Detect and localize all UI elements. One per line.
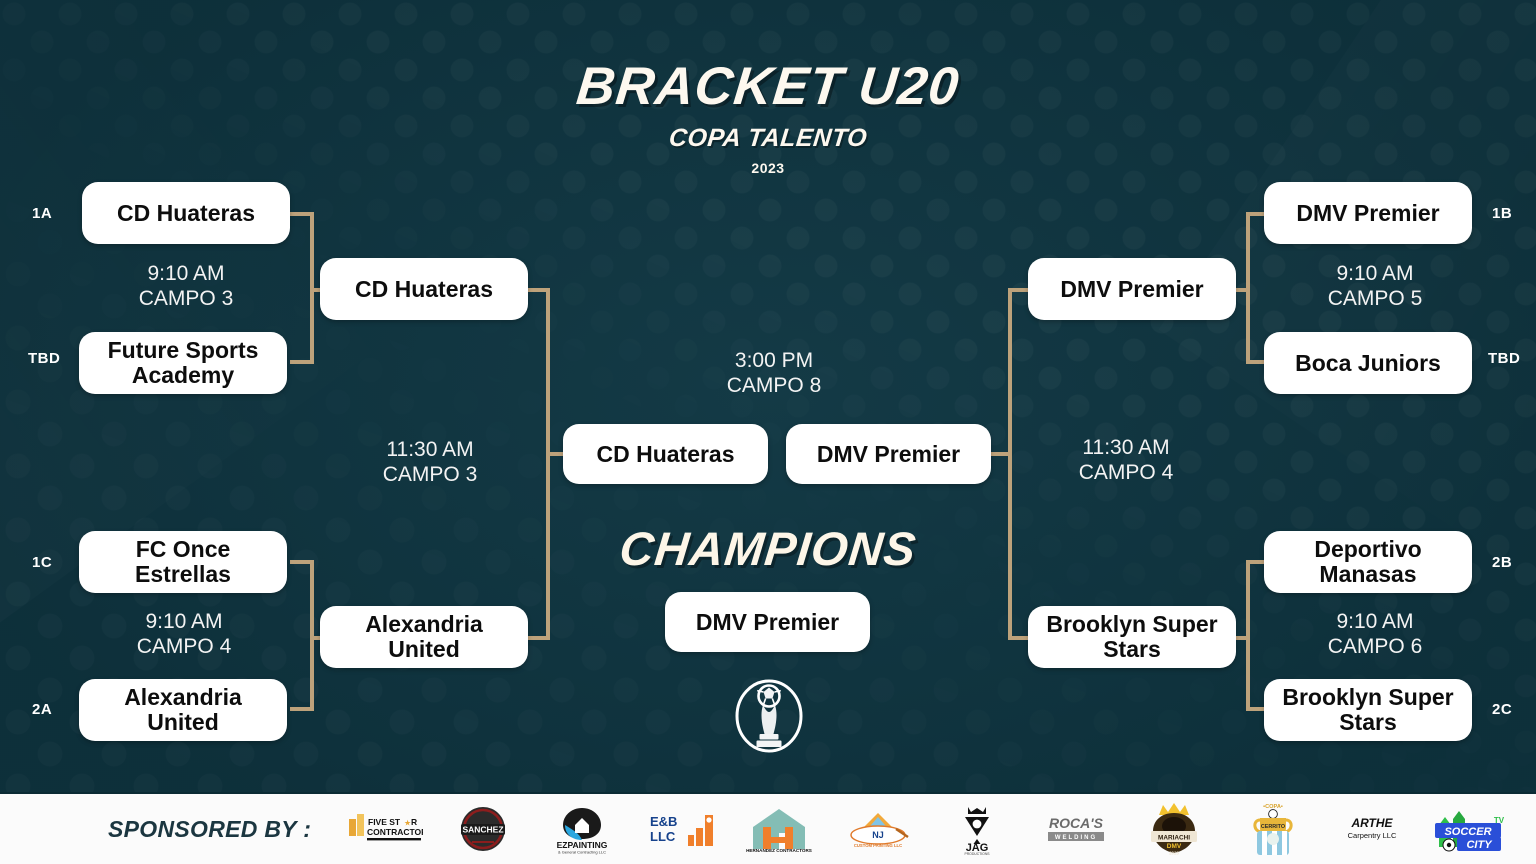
sponsor-logo-nj-custom-painting[interactable]: NJ CUSTOM PAINTING LLC [839, 800, 917, 858]
svg-text:WELDING: WELDING [1054, 835, 1096, 841]
seed-right-2: TBD [1488, 350, 1520, 367]
match-field: CAMPO 6 [1275, 634, 1475, 659]
svg-text:EZPAINTING: EZPAINTING [557, 840, 608, 850]
sponsor-logo-ezpainting[interactable]: EZPAINTING & General Contracting LLC [543, 800, 621, 858]
match-info-final: 3:00 PM CAMPO 8 [674, 348, 874, 398]
page-year: 2023 [0, 160, 1536, 176]
svg-text:CUSTOM PAINTING LLC: CUSTOM PAINTING LLC [854, 843, 902, 848]
connector-left-sf-vert [546, 288, 550, 638]
svg-text:ARTHE: ARTHE [1350, 816, 1393, 830]
sponsor-logo-sanchez[interactable]: SANCHEZ [444, 800, 522, 858]
team-box-left-r1-4[interactable]: Alexandria United [79, 679, 287, 741]
world-cup-trophy-icon [733, 677, 805, 760]
team-name: CD Huateras [117, 201, 255, 226]
svg-text:ROCA'S: ROCA'S [1049, 815, 1104, 831]
match-field: CAMPO 8 [674, 373, 874, 398]
team-name: CD Huateras [355, 277, 493, 302]
sponsor-logo-rocas-welding[interactable]: ROCA'S WELDING [1037, 800, 1115, 858]
match-time: 9:10 AM [86, 261, 286, 286]
connector-right-sf-bottom [1008, 636, 1030, 640]
page-title: BRACKET U20 [574, 56, 962, 117]
svg-text:PRODUCTIONS: PRODUCTIONS [964, 852, 990, 855]
team-box-left-sf-1[interactable]: CD Huateras [320, 258, 528, 320]
svg-text:& General Contracting LLC: & General Contracting LLC [558, 850, 606, 855]
team-box-champion[interactable]: DMV Premier [665, 592, 870, 652]
team-name: CD Huateras [596, 442, 734, 467]
seed-right-4: 2C [1492, 701, 1512, 718]
team-name: DMV Premier [817, 442, 960, 467]
connector-left-final-in [546, 452, 564, 456]
match-time: 11:30 AM [330, 437, 530, 462]
svg-text:DMV: DMV [1167, 843, 1182, 850]
match-field: CAMPO 5 [1275, 286, 1475, 311]
svg-text:CERRITO: CERRITO [1261, 824, 1285, 830]
match-info-right-2: 9:10 AM CAMPO 6 [1275, 609, 1475, 659]
seed-left-1: 1A [32, 205, 52, 222]
sponsor-logo-list: FIVE ST ★ R CONTRACTORS SANCHEZ [311, 800, 1536, 858]
match-info-right-semifinal: 11:30 AM CAMPO 4 [1026, 435, 1226, 485]
svg-text:NJ: NJ [872, 830, 884, 840]
seed-right-1: 1B [1492, 205, 1512, 222]
team-box-right-r1-1[interactable]: DMV Premier [1264, 182, 1472, 244]
connector-left-r1-vert-bottom [310, 560, 314, 710]
team-box-left-r1-1[interactable]: CD Huateras [82, 182, 290, 244]
team-name: DMV Premier [1060, 277, 1203, 302]
champions-heading: CHAMPIONS [0, 521, 1536, 576]
team-name: DMV Premier [696, 610, 839, 635]
seed-left-2: TBD [28, 350, 60, 367]
team-box-left-r1-2[interactable]: Future Sports Academy [79, 332, 287, 394]
connector-right-final-in [990, 452, 1010, 456]
seed-left-4: 2A [32, 701, 52, 718]
match-info-right-1: 9:10 AM CAMPO 5 [1275, 261, 1475, 311]
match-info-left-semifinal: 11:30 AM CAMPO 3 [330, 437, 530, 487]
svg-text:MARIACHI: MARIACHI [1158, 835, 1190, 842]
match-field: CAMPO 3 [86, 286, 286, 311]
team-box-right-sf-1[interactable]: DMV Premier [1028, 258, 1236, 320]
match-time: 9:10 AM [84, 609, 284, 634]
svg-text:•COPA•: •COPA• [1263, 804, 1283, 810]
team-box-right-r1-2[interactable]: Boca Juniors [1264, 332, 1472, 394]
team-box-right-r1-4[interactable]: Brooklyn Super Stars [1264, 679, 1472, 741]
svg-text:FIVE ST: FIVE ST [368, 817, 401, 827]
sponsor-logo-hernandez-contractors[interactable]: HERNANDEZ CONTRACTORS [740, 800, 818, 858]
svg-text:HERNANDEZ CONTRACTORS: HERNANDEZ CONTRACTORS [747, 848, 813, 853]
team-name: Alexandria United [330, 612, 518, 662]
team-name: DMV Premier [1296, 201, 1439, 226]
team-name: Alexandria United [89, 685, 277, 735]
connector-left-r1-bottom [290, 360, 314, 364]
team-box-finalist-left[interactable]: CD Huateras [563, 424, 768, 484]
connector-left-r1-bottom2 [290, 707, 314, 711]
svg-text:Carpentry LLC: Carpentry LLC [1347, 831, 1396, 840]
team-box-finalist-right[interactable]: DMV Premier [786, 424, 991, 484]
team-name: Brooklyn Super Stars [1038, 612, 1226, 662]
match-info-left-1: 9:10 AM CAMPO 3 [86, 261, 286, 311]
team-name: Future Sports Academy [89, 338, 277, 388]
poster-header: BRACKET U20 COPA TALENTO 2023 [0, 56, 1536, 176]
match-info-left-2: 9:10 AM CAMPO 4 [84, 609, 284, 659]
sponsor-logo-soccer-city-tv[interactable]: SOCCER TV CITY [1432, 800, 1510, 858]
svg-text:CONTRACTORS: CONTRACTORS [367, 827, 423, 837]
connector-right-r1-vert-bottom [1246, 560, 1250, 710]
svg-text:E&B: E&B [650, 814, 677, 829]
match-time: 9:10 AM [1275, 261, 1475, 286]
team-box-right-sf-2[interactable]: Brooklyn Super Stars [1028, 606, 1236, 668]
team-box-left-sf-2[interactable]: Alexandria United [320, 606, 528, 668]
match-time: 3:00 PM [674, 348, 874, 373]
svg-text:2023: 2023 [1170, 851, 1180, 856]
sponsor-logo-copa-cerrito[interactable]: •COPA• CERRITO [1234, 800, 1312, 858]
sponsor-logo-five-star-contractors[interactable]: FIVE ST ★ R CONTRACTORS [346, 800, 424, 858]
match-time: 9:10 AM [1275, 609, 1475, 634]
sponsor-logo-mariachi-dmv[interactable]: MARIACHI DMV 2023 [1135, 800, 1213, 858]
sponsored-by-label: SPONSORED BY : [108, 816, 311, 843]
sponsor-logo-eb-llc[interactable]: E&B LLC [642, 800, 720, 858]
svg-text:TV: TV [1493, 816, 1504, 825]
sponsor-bar: SPONSORED BY : FIVE ST ★ R CONTRACTORS [0, 792, 1536, 864]
match-field: CAMPO 3 [330, 462, 530, 487]
svg-text:R: R [411, 817, 417, 827]
sponsor-logo-arthe-carpentry[interactable]: ARTHE Carpentry LLC [1333, 800, 1411, 858]
svg-text:SANCHEZ: SANCHEZ [463, 825, 504, 835]
connector-left-sf-bottom [528, 636, 550, 640]
page-subtitle: COPA TALENTO [667, 124, 868, 153]
sponsor-logo-jag[interactable]: JAG PRODUCTIONS [938, 800, 1016, 858]
connector-right-sf-vert [1008, 288, 1012, 638]
match-field: CAMPO 4 [1026, 460, 1226, 485]
match-field: CAMPO 4 [84, 634, 284, 659]
team-name: Boca Juniors [1295, 351, 1441, 376]
bracket-poster: BRACKET U20 COPA TALENTO 2023 1A CD Huat… [0, 0, 1536, 864]
match-time: 11:30 AM [1026, 435, 1226, 460]
svg-text:CITY: CITY [1466, 839, 1493, 851]
svg-text:SOCCER: SOCCER [1444, 826, 1491, 838]
svg-text:LLC: LLC [650, 829, 676, 844]
team-name: Brooklyn Super Stars [1274, 685, 1462, 735]
